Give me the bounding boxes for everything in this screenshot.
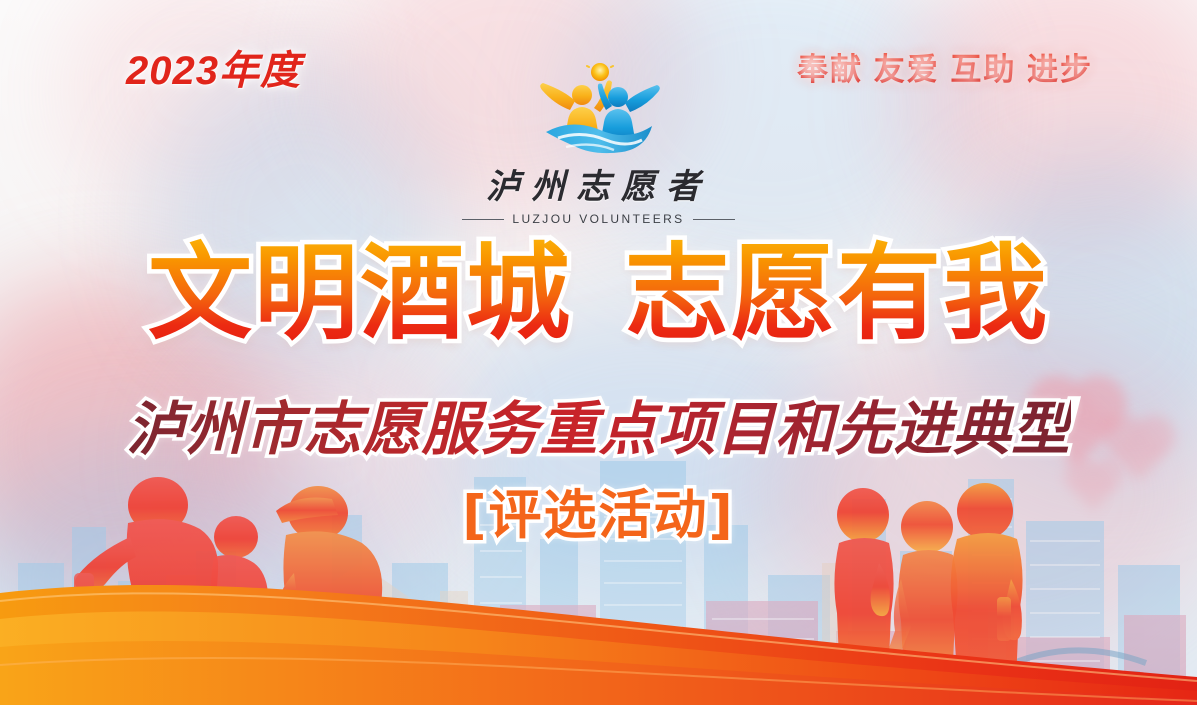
subtitle-text: 泸州市志愿服务重点项目和先进典型 (126, 382, 1070, 466)
logo-rule-right (693, 219, 735, 220)
activity-label: [评选活动] [评选活动] (462, 473, 734, 549)
activity-line: [评选活动] [评选活动] (0, 473, 1197, 549)
logo-english-name: LUZJOU VOLUNTEERS (512, 212, 684, 226)
logo-chinese-name: 泸州志愿者 (0, 159, 1197, 208)
poster-canvas: 2023年度 奉献 友爱 互助 进步 奉献 友爱 互助 进步 (0, 0, 1197, 705)
main-title-part2-fill: 志愿有我 (625, 232, 1049, 354)
main-title-part2: 志愿有我 志愿有我 (625, 238, 1049, 348)
main-title-part1-fill: 文明酒城 (148, 232, 572, 354)
main-title-part1: 文明酒城 文明酒城 (148, 238, 572, 348)
luzhou-volunteers-emblem-icon (524, 62, 674, 157)
organization-logo: 泸州志愿者 LUZJOU VOLUNTEERS (0, 62, 1197, 226)
main-title: 文明酒城 文明酒城 志愿有我 志愿有我 (0, 238, 1197, 348)
logo-english-row: LUZJOU VOLUNTEERS (0, 212, 1197, 226)
logo-rule-left (462, 219, 504, 220)
activity-label-fill: [评选活动] (462, 485, 734, 546)
subtitle: 泸州市志愿服务重点项目和先进典型 泸州市志愿服务重点项目和先进典型 (0, 382, 1197, 466)
